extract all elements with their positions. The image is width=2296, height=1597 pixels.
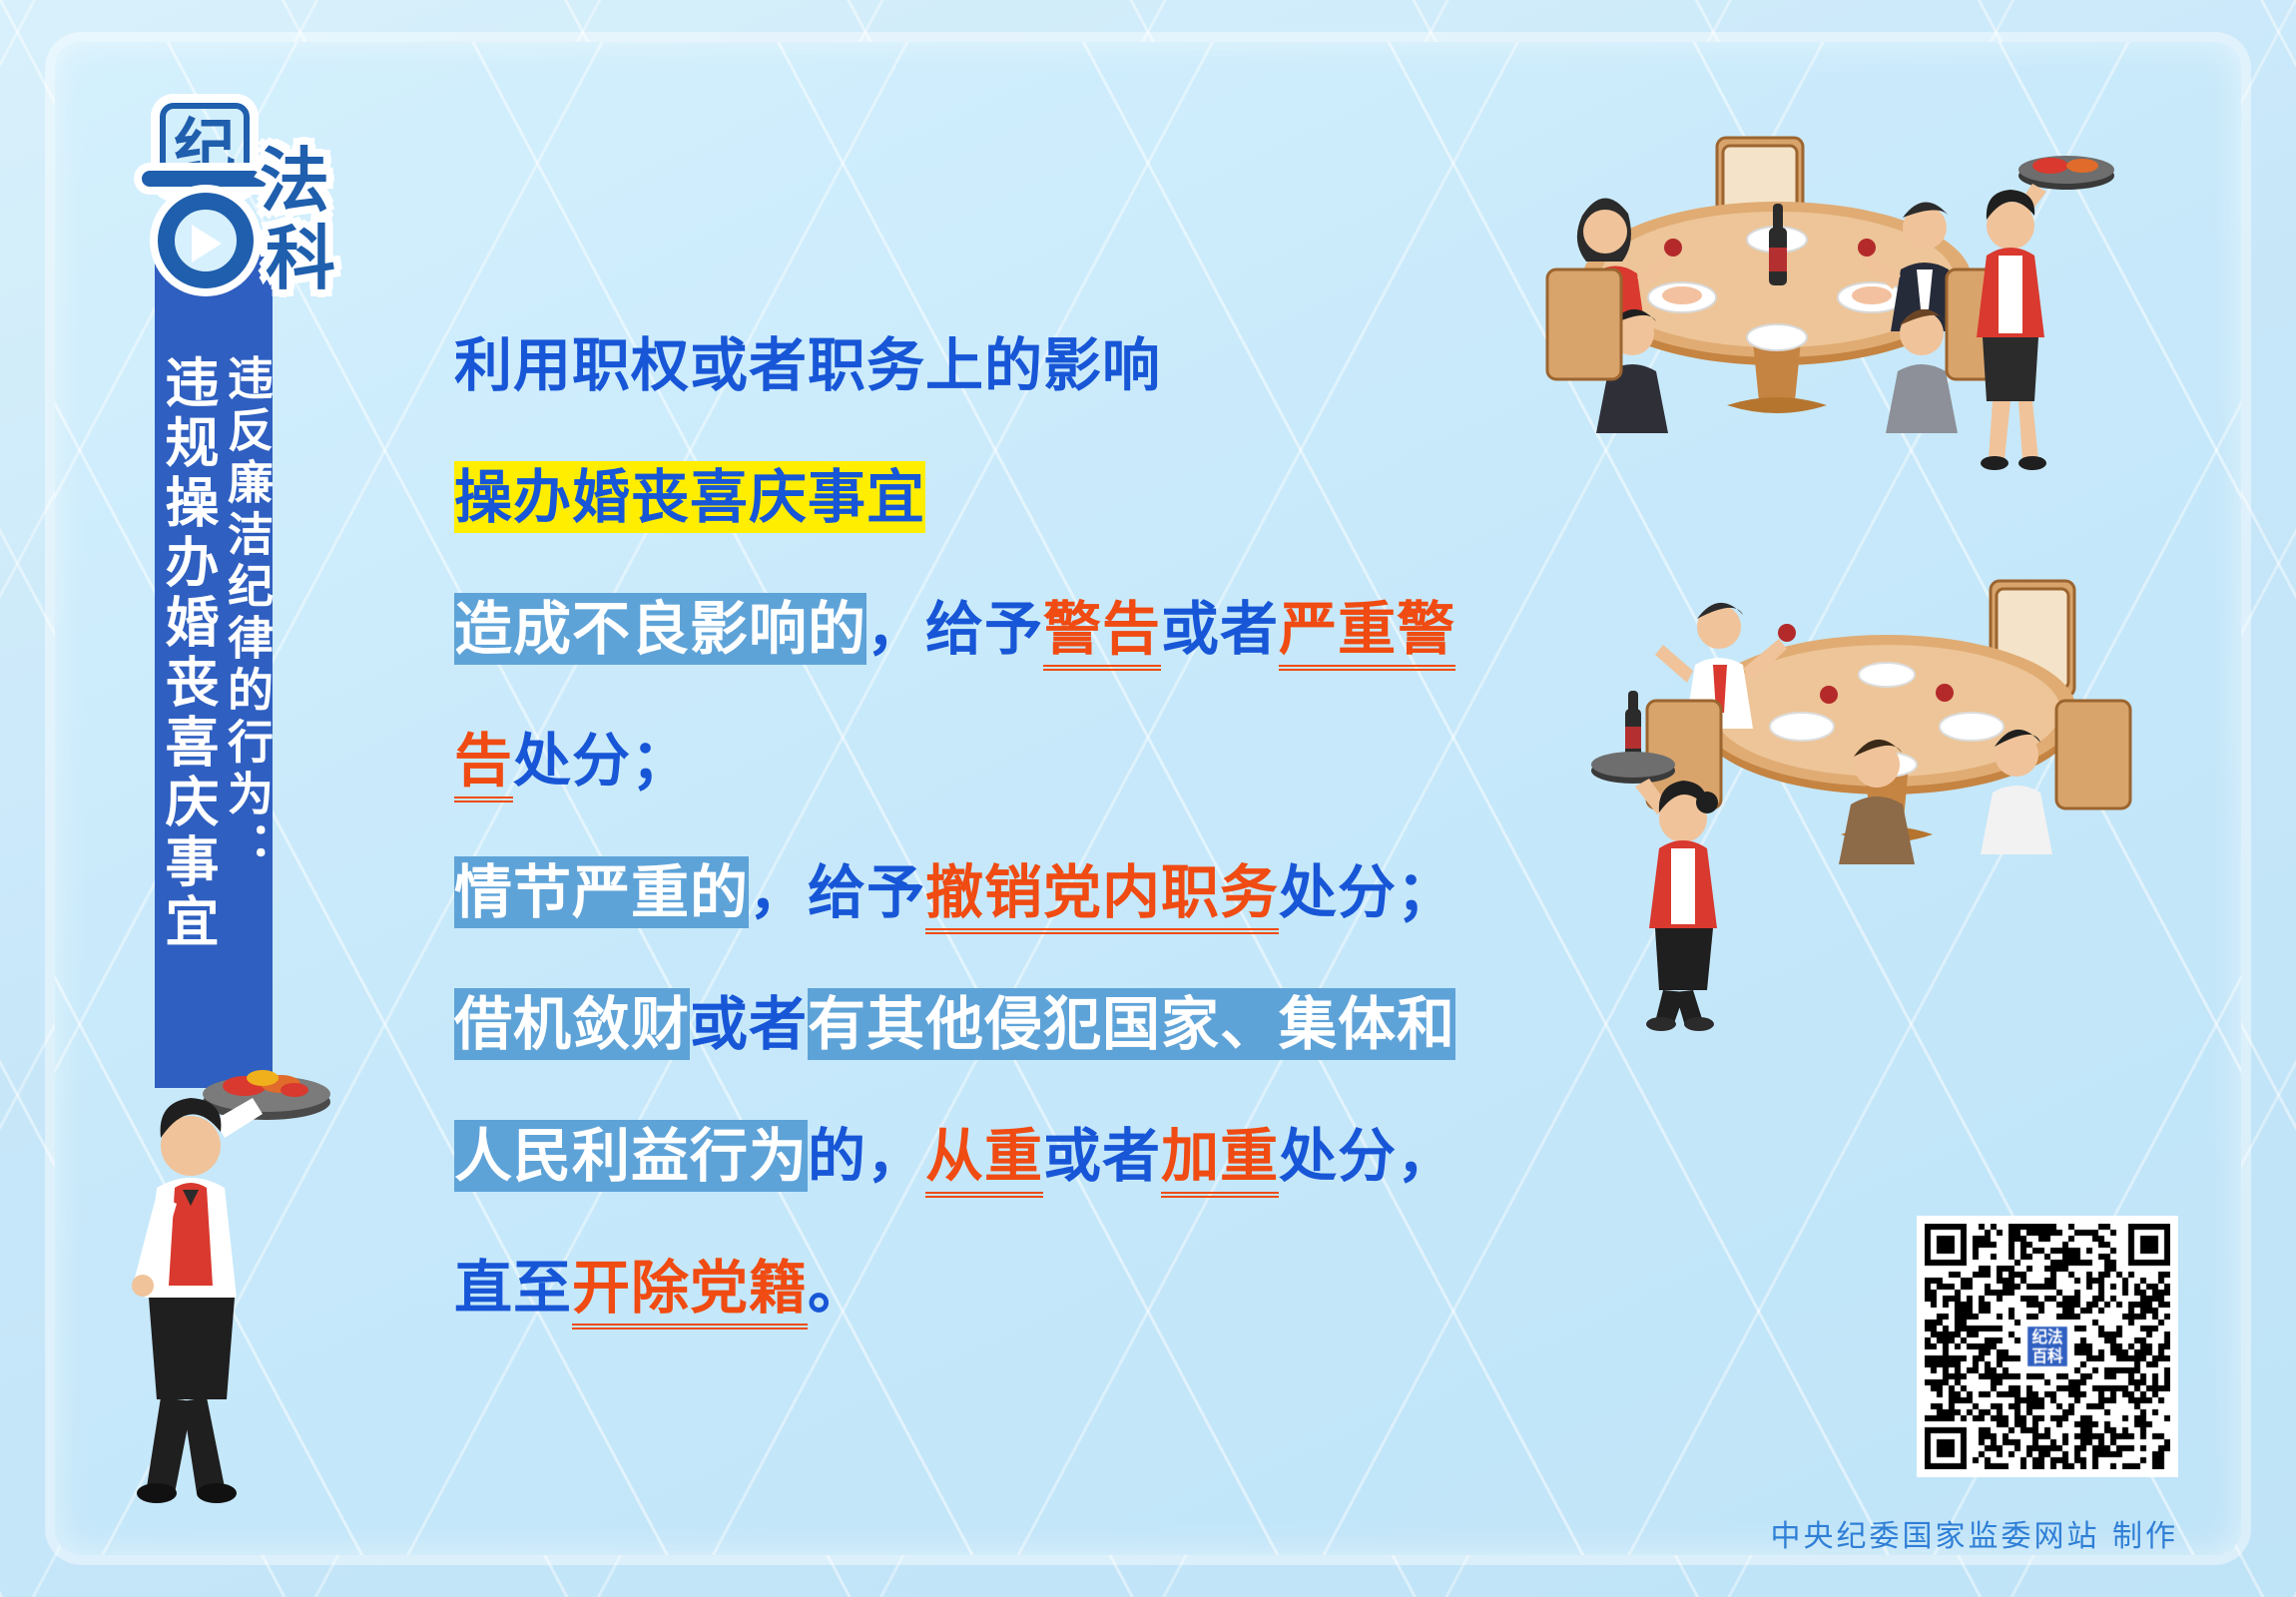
text-segment: 或者 [690,990,808,1058]
banner-title-right: 违反廉洁纪律的行为： [215,354,281,873]
logo-char-ke: 科 [266,203,335,303]
text-segment: 利用职权或者职务上的影响 [454,331,1161,399]
waiter-with-tray-left [95,998,354,1507]
line-8: 直至开除党籍。 [454,1222,1542,1353]
text-segment: ，给予 [866,595,1043,663]
line-5: 情节严重的，给予撤销党内职务处分； [454,826,1542,958]
text-segment: 警告 [1043,595,1161,671]
text-segment: 严重警 [1279,595,1455,671]
text-segment: 造成不良影响的 [454,593,866,665]
text-segment: 操办婚丧喜庆事宜 [454,461,925,533]
text-segment: 。 [808,1254,866,1322]
logo-jifa-baike: 纪 法 科 [120,95,349,294]
line-7: 人民利益行为的，从重或者加重处分， [454,1090,1542,1222]
text-segment: 告 [454,727,513,802]
poster-root: 纪 法 科 违规操办婚丧喜庆事宜 违反廉洁纪律的行为： 利用职权或者职务上的影响… [0,0,2296,1597]
text-segment: 直至 [454,1254,572,1322]
qr-code[interactable] [1917,1216,2178,1477]
logo-bai-top-bar [142,171,270,187]
text-segment: 开除党籍 [572,1254,808,1330]
qr-code-canvas [1925,1224,2170,1469]
line-1: 利用职权或者职务上的影响 [454,299,1542,431]
waitress-with-tray-right [1947,140,2136,469]
line-6: 借机敛财或者有其他侵犯国家、集体和 [454,958,1542,1090]
waiter-with-bottle-middle [1587,699,1787,1028]
play-icon [192,225,222,263]
text-segment: 借机敛财 [454,988,690,1060]
footer-credit: 中央纪委国家监委网站 制作 [1770,1511,2178,1555]
line-4: 告处分； [454,695,1542,826]
text-segment: 处分； [513,727,690,795]
text-segment: 从重 [925,1122,1043,1198]
text-segment: 或者 [1043,1122,1161,1190]
regulation-body-text: 利用职权或者职务上的影响操办婚丧喜庆事宜造成不良影响的，给予警告或者严重警告处分… [454,299,1542,1353]
text-segment: 情节严重的 [454,856,749,928]
text-segment: 撤销党内职务 [925,858,1279,934]
text-segment: 处分， [1279,1122,1455,1190]
text-segment: 有其他侵犯国家、集体和 [808,988,1455,1060]
text-segment: 人民利益行为 [454,1120,808,1192]
text-segment: 或者 [1161,595,1279,663]
text-segment: 的， [808,1122,925,1190]
text-segment: 加重 [1161,1122,1279,1198]
line-3: 造成不良影响的，给予警告或者严重警 [454,563,1542,695]
text-segment: 处分； [1279,858,1455,926]
line-2: 操办婚丧喜庆事宜 [454,431,1542,563]
text-segment: ，给予 [749,858,925,926]
